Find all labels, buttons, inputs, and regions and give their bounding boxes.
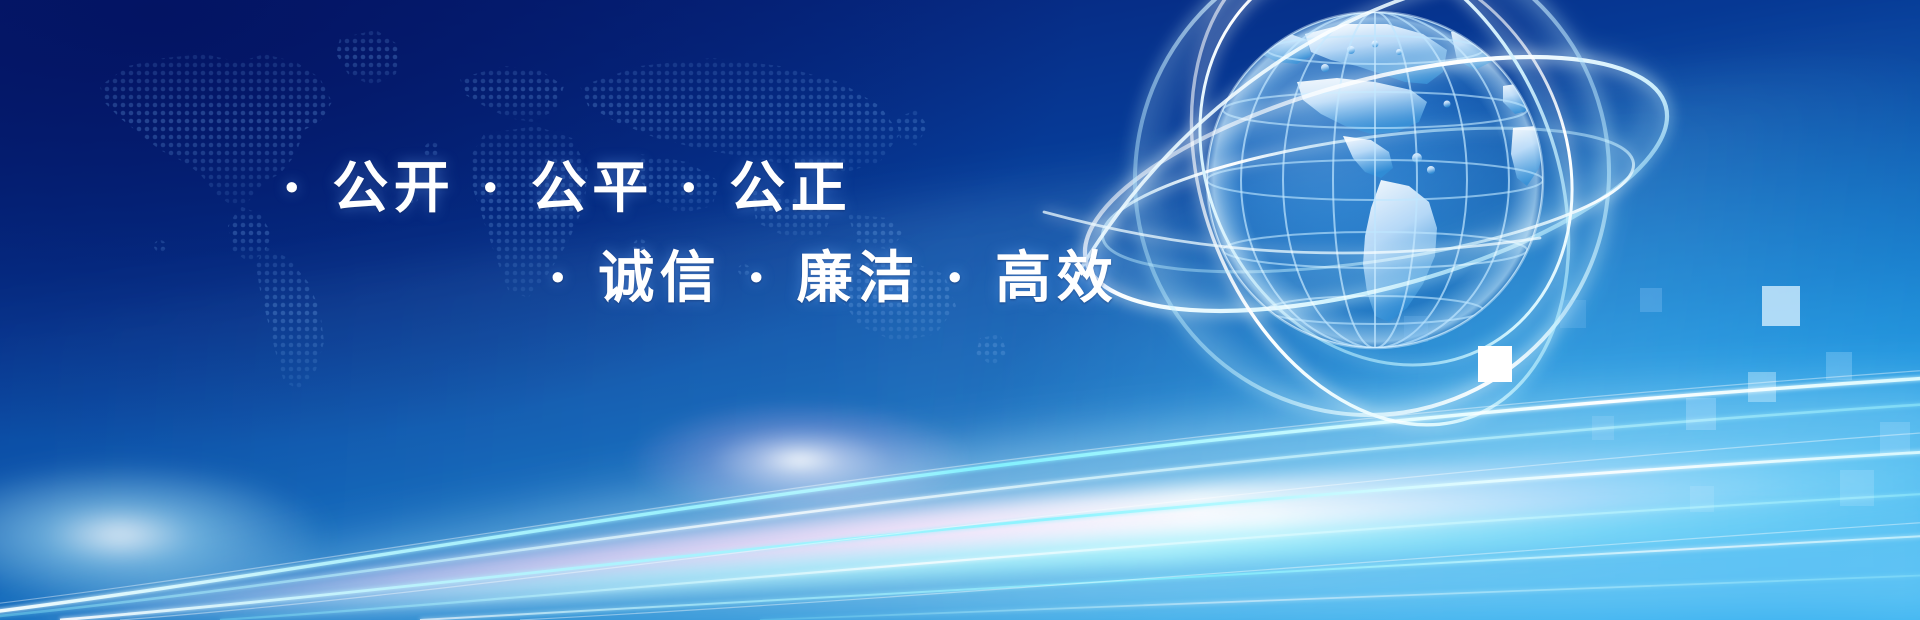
light-burst-center bbox=[630, 400, 970, 520]
square-accent-9 bbox=[1592, 416, 1614, 440]
square-accent-4 bbox=[1686, 398, 1716, 430]
world-map-watermark bbox=[40, 6, 1120, 406]
slogan-block: · 公开 · 公平 · 公正 · 诚信 · 廉洁 · 高效 bbox=[0, 0, 1180, 360]
globe-graphic bbox=[1075, 0, 1615, 410]
hero-banner: · 公开 · 公平 · 公正 · 诚信 · 廉洁 · 高效 bbox=[0, 0, 1920, 620]
slogan-line-2: · 诚信 · 廉洁 · 高效 bbox=[548, 233, 1118, 314]
square-accents bbox=[0, 0, 1920, 620]
orbital-rings bbox=[1020, 0, 1680, 450]
square-accent-1 bbox=[1762, 286, 1800, 326]
sheen-band-1 bbox=[0, 35, 1920, 620]
diagonal-sheen bbox=[0, 0, 1920, 620]
square-accent-7 bbox=[1560, 300, 1586, 328]
square-accent-10 bbox=[1840, 470, 1874, 506]
square-accent-2 bbox=[1748, 372, 1776, 402]
light-burst-left bbox=[0, 460, 330, 610]
square-accent-11 bbox=[1690, 486, 1714, 512]
square-accent-8 bbox=[1404, 316, 1428, 342]
square-accent-3 bbox=[1826, 352, 1852, 380]
sheen-band-2 bbox=[835, 0, 1920, 620]
square-accent-white bbox=[1478, 346, 1512, 382]
square-accent-5 bbox=[1880, 422, 1910, 454]
square-accent-6 bbox=[1640, 288, 1662, 312]
light-wave-ribbons bbox=[0, 290, 1920, 620]
slogan-line-1: · 公开 · 公平 · 公正 bbox=[282, 143, 852, 224]
